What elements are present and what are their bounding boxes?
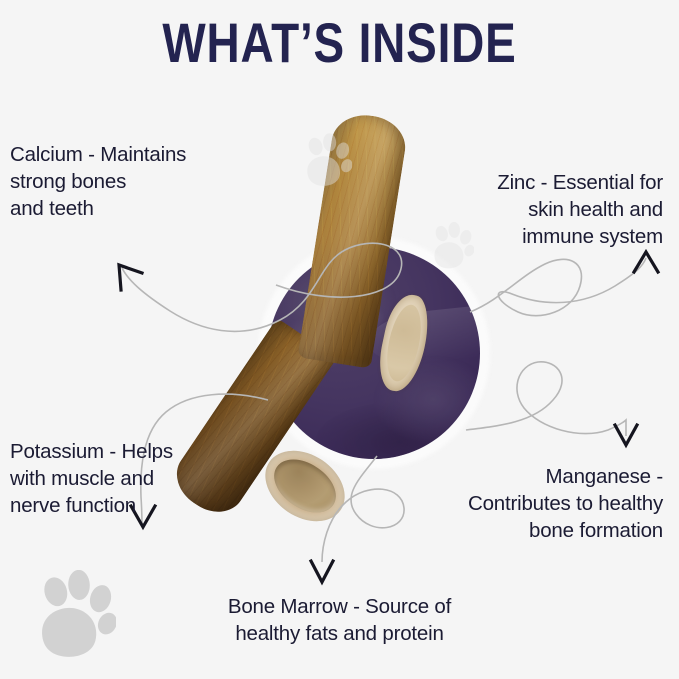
- callout-bone-marrow-line-2: healthy fats and protein: [0, 620, 679, 647]
- callout-zinc-line-1: Zinc - Essential for: [497, 169, 663, 196]
- callout-calcium-line-1: Calcium - Maintains: [10, 141, 186, 168]
- callout-manganese-line-2: Contributes to healthy: [468, 490, 663, 517]
- connector-zinc: [470, 258, 646, 316]
- callout-calcium-line-3: and teeth: [10, 195, 186, 222]
- paw-print-icon: [300, 133, 352, 188]
- page-title: WHAT’S INSIDE: [61, 14, 618, 73]
- connector-manganese: [466, 362, 626, 436]
- callout-bone-marrow-line-1: Bone Marrow - Source of: [0, 593, 679, 620]
- callout-potassium-line-1: Potassium - Helps: [10, 438, 173, 465]
- callout-potassium-line-3: nerve function: [10, 492, 173, 519]
- callout-potassium-line-2: with muscle and: [10, 465, 173, 492]
- callout-manganese-line-1: Manganese -: [468, 463, 663, 490]
- callout-manganese-line-3: bone formation: [468, 517, 663, 544]
- callout-zinc-line-3: immune system: [497, 223, 663, 250]
- arrowhead-bone-marrow: [311, 561, 333, 582]
- callout-calcium-line-2: strong bones: [10, 168, 186, 195]
- arrowhead-calcium: [119, 265, 142, 290]
- product-circle-backdrop: [268, 247, 480, 459]
- callout-bone-marrow: Bone Marrow - Source of healthy fats and…: [0, 593, 679, 647]
- callout-manganese: Manganese - Contributes to healthy bone …: [468, 463, 663, 544]
- callout-zinc-line-2: skin health and: [497, 196, 663, 223]
- dog-eye: [324, 300, 337, 309]
- arrowhead-zinc: [634, 252, 658, 272]
- arrowhead-manganese: [615, 425, 637, 445]
- callout-zinc: Zinc - Essential for skin health and imm…: [497, 169, 663, 250]
- connector-bone-marrow: [322, 456, 404, 562]
- callout-calcium: Calcium - Maintains strong bones and tee…: [10, 141, 186, 222]
- callout-potassium: Potassium - Helps with muscle and nerve …: [10, 438, 173, 519]
- infographic-canvas: WHAT’S INSIDE Calcium: [0, 0, 679, 679]
